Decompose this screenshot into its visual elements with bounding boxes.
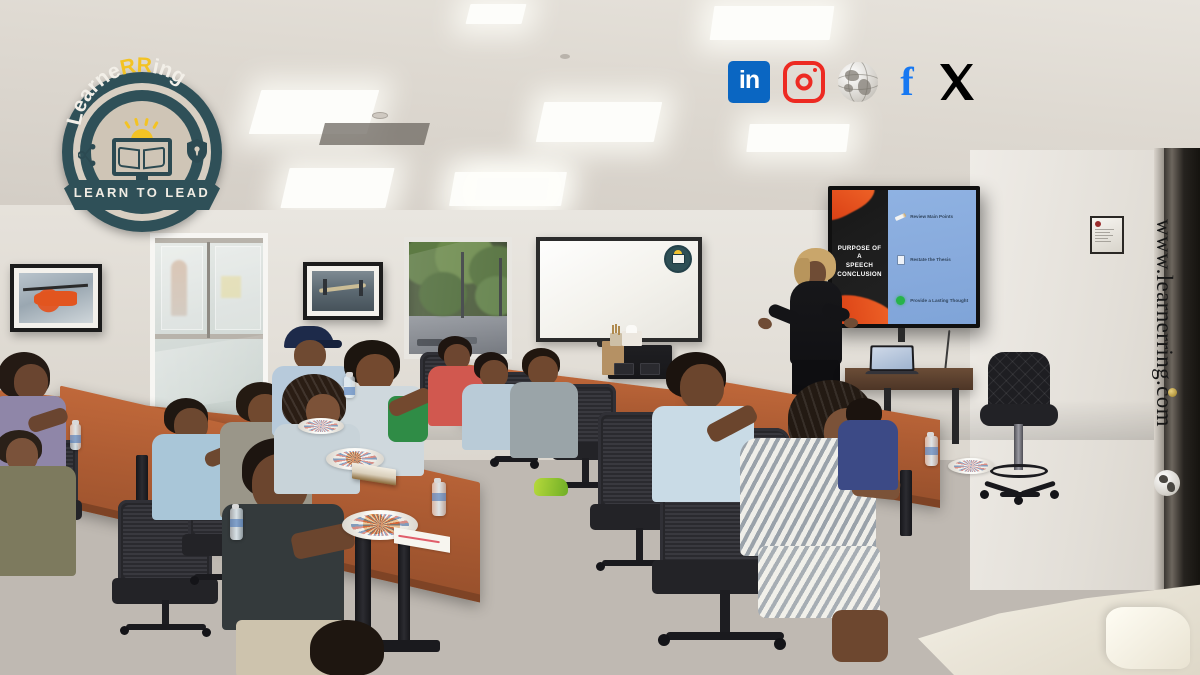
helicopter-photo <box>10 264 102 332</box>
website-url: www.learnerring.com <box>1144 170 1184 490</box>
pencil-cup <box>610 333 622 346</box>
slide-bullet: Review Main Points <box>895 211 972 222</box>
tissue-box <box>622 331 642 346</box>
x-twitter-icon[interactable] <box>936 61 978 103</box>
student <box>838 398 900 490</box>
presenter-torso <box>790 281 842 365</box>
table-leg <box>900 470 912 536</box>
water-bottle <box>432 482 446 516</box>
ceiling-speaker <box>560 54 570 59</box>
document-icon <box>895 254 906 265</box>
ceiling-light <box>536 102 663 142</box>
water-bottle <box>925 436 938 466</box>
sneaker <box>534 478 568 496</box>
water-bottle <box>344 376 355 398</box>
ceiling-light <box>474 178 549 200</box>
drafting-stool <box>978 352 1064 522</box>
facebook-label: f <box>900 63 913 101</box>
window-reflection-object <box>221 276 241 298</box>
slide-bullet: Restate the Thesis <box>895 254 972 265</box>
instagram-icon[interactable] <box>783 61 825 103</box>
slide-body-panel: Review Main Points Restate the Thesis Pr… <box>888 190 976 324</box>
facebook-icon[interactable]: f <box>891 61 923 103</box>
framed-certificate <box>1090 216 1124 254</box>
shield-icon <box>186 138 208 164</box>
linkedin-icon[interactable]: in <box>728 61 770 103</box>
shorts <box>758 546 880 618</box>
logo-tagline: LEARN TO LEAD <box>58 185 226 200</box>
osprey-photo <box>303 262 383 320</box>
paper-plate <box>948 458 994 474</box>
leg <box>832 610 888 662</box>
presenter-right-hand <box>844 318 858 328</box>
tablecloth <box>900 579 1200 675</box>
student <box>300 620 420 675</box>
slide-bullet: Provide a Lasting Thought <box>895 295 972 306</box>
ceiling-light <box>466 4 527 24</box>
pencil-icon <box>895 211 906 222</box>
adult-attendee <box>0 430 86 580</box>
globe-icon-small <box>1154 470 1180 496</box>
learnerring-logo: LearneRRing <box>62 72 222 232</box>
laptop[interactable] <box>866 345 918 375</box>
window-reflection-person <box>171 260 187 316</box>
network-node-icon <box>78 142 100 166</box>
paper-plate <box>298 418 344 434</box>
linkedin-label: in <box>739 68 759 93</box>
globe-icon[interactable] <box>838 62 878 102</box>
water-bottle <box>230 508 243 540</box>
desk-leg <box>952 388 959 444</box>
ceiling-light <box>710 6 835 40</box>
social-icons-bar: in f <box>728 57 978 107</box>
tv-mount <box>898 328 905 342</box>
student <box>510 348 580 458</box>
ceiling-vent <box>319 123 430 145</box>
ceiling-light <box>280 168 394 208</box>
ceiling-light <box>746 124 849 152</box>
monitor-book-icon <box>112 130 172 180</box>
water-bottle <box>70 424 81 450</box>
classroom-photo: PURPOSE OF A SPEECH CONCLUSION Review Ma… <box>0 0 1200 675</box>
smoke-detector <box>372 112 388 119</box>
logo-banner: LEARN TO LEAD <box>58 176 226 218</box>
whiteboard-logo <box>664 245 692 273</box>
tissue <box>626 325 637 333</box>
green-dot-icon <box>895 295 906 306</box>
website-url-text: www.learnerring.com <box>1151 173 1177 473</box>
